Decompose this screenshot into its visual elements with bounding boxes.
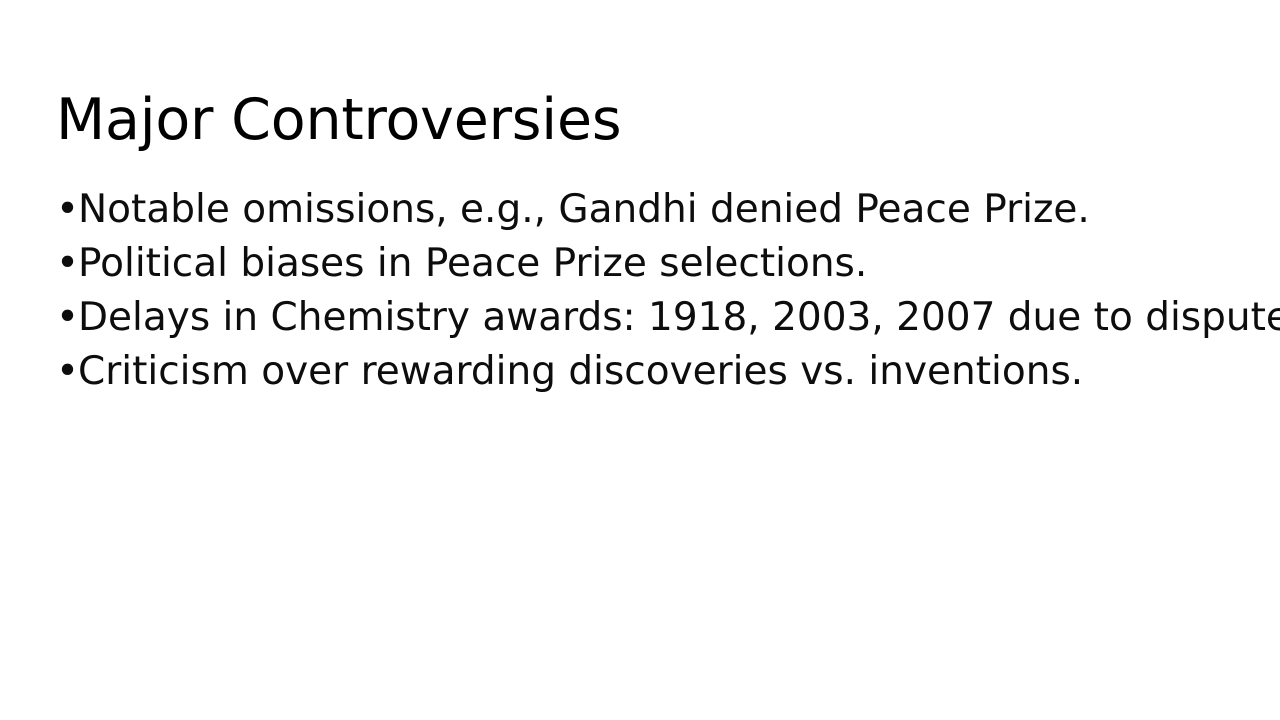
list-item: • Notable omissions, e.g., Gandhi denied… [56, 183, 1236, 237]
bullet-point-icon: • [56, 345, 78, 399]
list-item-label: Delays in Chemistry awards: 1918, 2003, … [78, 295, 1280, 340]
list-item: • Delays in Chemistry awards: 1918, 2003… [56, 291, 1236, 345]
bullet-point-icon: • [56, 237, 78, 291]
list-item: • Political biases in Peace Prize select… [56, 237, 1236, 291]
list-item-label: Political biases in Peace Prize selectio… [78, 241, 867, 286]
page-title: Major Controversies [56, 86, 1226, 154]
slide-canvas: Major Controversies • Notable omissions,… [0, 0, 1280, 720]
list-item-label: Criticism over rewarding discoveries vs.… [78, 349, 1083, 394]
list-item: • Criticism over rewarding discoveries v… [56, 345, 1236, 399]
bullet-point-icon: • [56, 291, 78, 345]
bullet-point-icon: • [56, 183, 78, 237]
list-item-label: Notable omissions, e.g., Gandhi denied P… [78, 187, 1090, 232]
bullet-list: • Notable omissions, e.g., Gandhi denied… [56, 183, 1236, 399]
